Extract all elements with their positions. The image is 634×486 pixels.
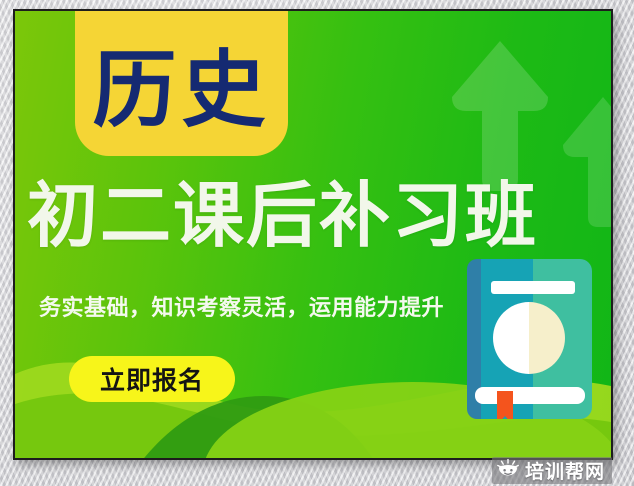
subject-badge-label: 历史	[92, 48, 270, 156]
book-icon	[467, 259, 592, 419]
up-arrow-icon	[452, 41, 548, 191]
subtitle: 务实基础，知识考察灵活，运用能力提升	[39, 290, 444, 322]
promo-banner[interactable]: 历史 初二课后补习班 务实基础，知识考察灵活，运用能力提升 立即报名	[13, 9, 613, 460]
smiley-sun-icon	[497, 459, 519, 483]
enroll-now-label: 立即报名	[100, 361, 204, 397]
subject-badge: 历史	[75, 9, 288, 156]
headline: 初二课后补习班	[27, 179, 607, 254]
enroll-now-button[interactable]: 立即报名	[69, 356, 235, 402]
watermark: 培训帮网	[492, 457, 612, 484]
watermark-label: 培训帮网	[525, 457, 605, 484]
